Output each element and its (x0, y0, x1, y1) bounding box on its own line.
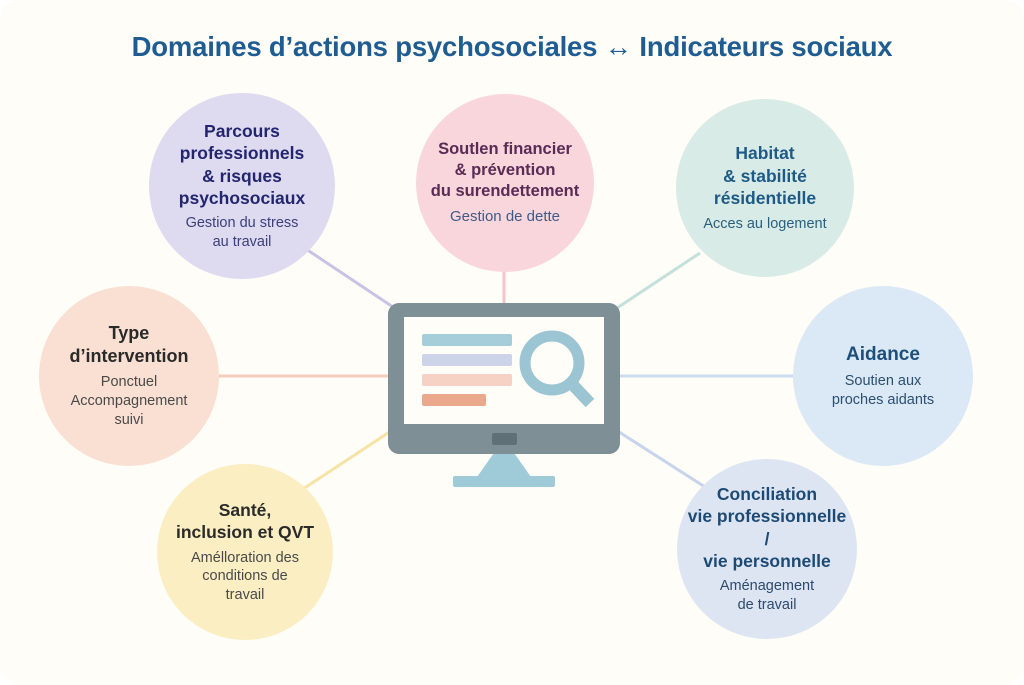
bubble-soutien-financier[interactable]: Soutlen financier & prévention du surend… (416, 94, 594, 272)
bubble-parcours[interactable]: Parcours professionnels & risques psycho… (149, 93, 335, 279)
diagram-canvas: Domaines d’actions psychosociales ↔ Indi… (0, 0, 1024, 685)
bubble-habitat[interactable]: Habitat & stabilité résidentielle Acces … (676, 99, 854, 277)
bubble-sante-qvt[interactable]: Santé, inclusion et QVT Amélloration des… (157, 464, 333, 640)
connector-conciliation (616, 430, 705, 487)
bubble-conciliation[interactable]: Conciliation vie professionnelle / vie p… (677, 459, 857, 639)
bubble-conciliation-subtitle: Aménagement de travail (720, 577, 814, 615)
bubble-type-intervention[interactable]: Type d’intervention Ponctuel Accompagnem… (39, 286, 219, 466)
bubble-aidance[interactable]: Aidance Soutien aux proches aidants (793, 286, 973, 466)
magnifier-icon (516, 329, 598, 413)
bubble-habitat-title: Habitat & stabilité résidentielle (714, 142, 816, 209)
screen-bar-4 (422, 394, 486, 406)
bubble-conciliation-title: Conciliation vie professionnelle / vie p… (687, 483, 847, 573)
monitor-frame (388, 303, 620, 454)
monitor-search-icon (388, 303, 620, 488)
connector-habitat (611, 253, 700, 312)
screen-bar-2 (422, 354, 512, 366)
bubble-habitat-subtitle: Acces au logement (703, 215, 826, 234)
screen-bar-1 (422, 334, 512, 346)
monitor-base (453, 476, 555, 487)
bubble-parcours-subtitle: Gestion du stress au travail (186, 214, 299, 252)
bubble-type-title: Type d’intervention (69, 322, 188, 368)
bubble-parcours-title: Parcours professionnels & risques psycho… (179, 120, 305, 210)
bubble-sante-title: Santé, inclusion et QVT (176, 499, 314, 544)
bubble-soutien-title: Soutlen financier & prévention du surend… (431, 139, 580, 202)
monitor-screen (404, 317, 604, 424)
connector-sante (300, 429, 394, 491)
connector-parcours (306, 249, 399, 311)
bubble-aidance-title: Aidance (846, 343, 920, 367)
bubble-sante-subtitle: Amélloration des conditions de travail (191, 549, 299, 606)
monitor-notch (492, 433, 517, 445)
screen-bar-3 (422, 374, 512, 386)
bubble-soutien-subtitle: Gestion de dette (450, 207, 560, 227)
bubble-type-subtitle: Ponctuel Accompagnement suivi (71, 373, 188, 430)
bubble-aidance-subtitle: Soutien aux proches aidants (832, 372, 934, 410)
monitor-neck (477, 454, 531, 477)
